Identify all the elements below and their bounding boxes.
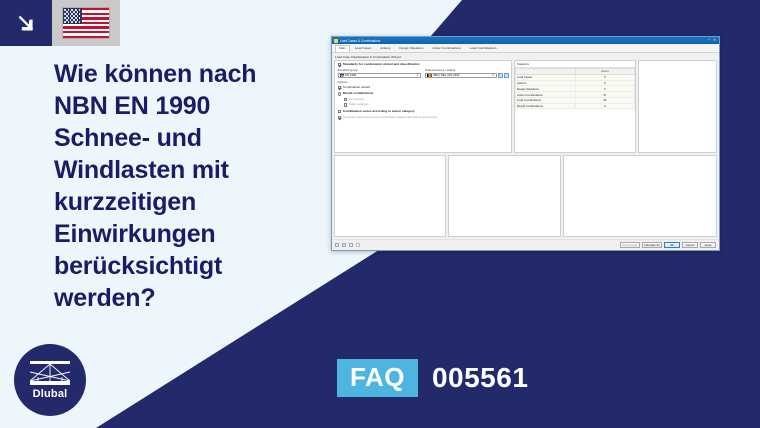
faq-badge: FAQ 005561 — [337, 359, 528, 397]
chevron-down-icon[interactable]: ▼ — [492, 74, 495, 77]
lower-area — [334, 155, 717, 239]
checkbox-icon[interactable] — [338, 86, 341, 89]
page-title: Wie können nach NBN EN 1990 Schnee- und … — [54, 58, 304, 314]
standards-checkbox-label: Standards for combination wizard and cla… — [343, 63, 420, 66]
national-annex-field: National annex / setting: NBN | BEL | EN… — [425, 68, 509, 78]
ok-button[interactable]: OK — [664, 242, 680, 248]
chevron-down-icon[interactable]: ▼ — [416, 74, 419, 77]
checkbox-icon[interactable] — [344, 103, 347, 106]
calculate-all-button[interactable]: Calculate All — [642, 242, 662, 248]
faq-chip-label: FAQ — [337, 359, 418, 397]
option-combination-series[interactable]: Combination series according to action c… — [338, 110, 509, 113]
option-combination-wizard[interactable]: Combination wizard — [338, 86, 509, 89]
options-caption: Options — [338, 80, 509, 84]
settings-panel: Standards for combination wizard and cla… — [334, 60, 512, 153]
option-label: Generate load cases from combination sta… — [343, 116, 437, 119]
info-standard-button[interactable]: ⓘ — [504, 73, 509, 78]
settings-item-icon[interactable] — [356, 243, 360, 247]
option-label: Static analysis — [349, 103, 369, 106]
option-generate-load-cases[interactable]: Generate load cases from combination sta… — [338, 116, 509, 119]
tab-main[interactable]: Main — [335, 45, 350, 52]
standards-checkbox-row[interactable]: Standards for combination wizard and cla… — [338, 63, 509, 66]
eu-flag-icon — [340, 74, 345, 77]
option-label: Combination wizard — [343, 86, 370, 89]
export-item-icon[interactable] — [349, 243, 353, 247]
option-label: Combination series according to action c… — [343, 110, 415, 113]
national-annex-select[interactable]: NBN | BEL | EN 1990 ▼ — [425, 73, 497, 78]
minimize-icon[interactable]: ─ — [708, 39, 710, 42]
tab-design-situations[interactable]: Design Situations — [395, 45, 427, 52]
statistics-panel: Statistics Count Load Cases 5 — [514, 60, 636, 153]
footer-toolbar[interactable] — [335, 243, 360, 247]
row-name: Result Combinations — [516, 103, 576, 109]
statistics-title: Statistics — [515, 61, 635, 68]
standard-group-select[interactable]: EN 1990 ▼ — [338, 73, 422, 78]
background-navy-right-strip — [720, 44, 760, 248]
faq-number: 005561 — [432, 364, 528, 392]
slide-canvas: Wie können nach NBN EN 1990 Schnee- und … — [0, 0, 760, 428]
tab-action-combinations[interactable]: Action Combinations — [428, 45, 464, 52]
dialog-title: Load Cases & Combinations — [340, 39, 708, 43]
app-icon — [334, 39, 338, 43]
load-cases-combinations-dialog[interactable]: Load Cases & Combinations ─ ✕ Main Load … — [331, 36, 720, 251]
option-label: Result combinations — [343, 92, 373, 95]
dlubal-logo: Dlubal — [14, 344, 86, 416]
upper-area: Standards for combination wizard and cla… — [334, 60, 717, 153]
checkbox-icon[interactable] — [344, 98, 347, 101]
option-permanent[interactable]: Permanent — [338, 98, 509, 101]
row-count: 0 — [575, 103, 635, 109]
edit-standard-button[interactable]: ✎ — [498, 73, 503, 78]
radio-icon[interactable] — [338, 92, 341, 95]
national-annex-label: National annex / setting: — [425, 68, 509, 72]
corner-badge — [0, 0, 52, 46]
lower-left-panel — [334, 155, 446, 237]
dlubal-bridge-icon — [30, 361, 70, 385]
dialog-body: Load Case Classification & Combination W… — [332, 53, 719, 239]
language-flag-badge[interactable] — [52, 0, 120, 46]
table-row[interactable]: Result Combinations 0 — [516, 103, 635, 109]
footer-buttons[interactable]: Check Load Calculate All OK Cancel Apply — [620, 242, 716, 248]
tab-load-combinations[interactable]: Load Combinations — [466, 45, 501, 52]
tab-actions[interactable]: Actions — [376, 45, 394, 52]
checkbox-icon[interactable] — [338, 63, 341, 66]
standard-fields-row: Standard group: EN 1990 ▼ National annex… — [338, 68, 509, 78]
tab-load-cases[interactable]: Load Cases — [351, 45, 376, 52]
us-flag-icon — [63, 8, 109, 38]
window-controls[interactable]: ─ ✕ — [708, 39, 716, 42]
lower-right-panel — [563, 155, 717, 237]
option-static-analysis[interactable]: Static analysis — [338, 103, 509, 106]
checkbox-icon[interactable] — [338, 116, 341, 119]
truss-lines — [30, 364, 70, 381]
standard-group-value: EN 1990 — [345, 73, 415, 77]
option-label: Permanent — [349, 98, 364, 101]
standard-group-label: Standard group: — [338, 68, 422, 72]
lower-middle-panel — [448, 155, 560, 237]
dialog-tabbar[interactable]: Main Load Cases Actions Design Situation… — [332, 44, 719, 53]
new-item-icon[interactable] — [335, 243, 339, 247]
preview-panel — [638, 60, 717, 153]
national-annex-value: NBN | BEL | EN 1990 — [433, 73, 491, 77]
check-load-button[interactable]: Check Load — [620, 242, 640, 248]
statistics-table: Count Load Cases 5 Actions 5 — [515, 68, 635, 109]
apply-button[interactable]: Apply — [700, 242, 716, 248]
be-flag-icon — [427, 74, 432, 77]
checkbox-icon[interactable] — [338, 110, 341, 113]
dlubal-wordmark: Dlubal — [33, 388, 68, 400]
copy-item-icon[interactable] — [342, 243, 346, 247]
dialog-titlebar[interactable]: Load Cases & Combinations ─ ✕ — [332, 37, 719, 44]
cancel-button[interactable]: Cancel — [682, 242, 698, 248]
dialog-footer: Check Load Calculate All OK Cancel Apply — [332, 239, 719, 250]
standard-group-field: Standard group: EN 1990 ▼ — [338, 68, 422, 78]
option-result-combinations[interactable]: Result combinations — [338, 92, 509, 95]
arrow-down-right-icon — [15, 12, 37, 34]
close-icon[interactable]: ✕ — [713, 39, 716, 42]
